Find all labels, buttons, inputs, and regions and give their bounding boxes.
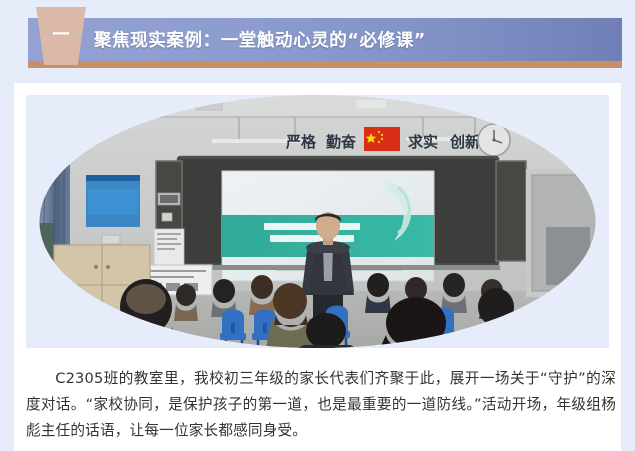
body-paragraph: C2305班的教室里，我校初三年级的家长代表们齐聚于此，展开一场关于“守护”的深… bbox=[26, 366, 616, 444]
section-header-banner: 一 聚焦现实案例：一堂触动心灵的“必修课” bbox=[14, 7, 622, 70]
classroom-photo: 严格 勤奋 求实 创新 bbox=[26, 95, 609, 348]
paragraph-text: C2305班的教室里，我校初三年级的家长代表们齐聚于此，展开一场关于“守护”的深… bbox=[26, 370, 616, 439]
page-root: 一 聚焦现实案例：一堂触动心灵的“必修课” bbox=[0, 0, 635, 451]
section-title: 聚焦现实案例：一堂触动心灵的“必修课” bbox=[94, 20, 426, 59]
content-card: 严格 勤奋 求实 创新 bbox=[14, 83, 621, 451]
photo-container: 严格 勤奋 求实 创新 bbox=[26, 95, 609, 348]
banner-underline-strip bbox=[28, 61, 622, 68]
section-number-label: 一 bbox=[53, 27, 70, 46]
